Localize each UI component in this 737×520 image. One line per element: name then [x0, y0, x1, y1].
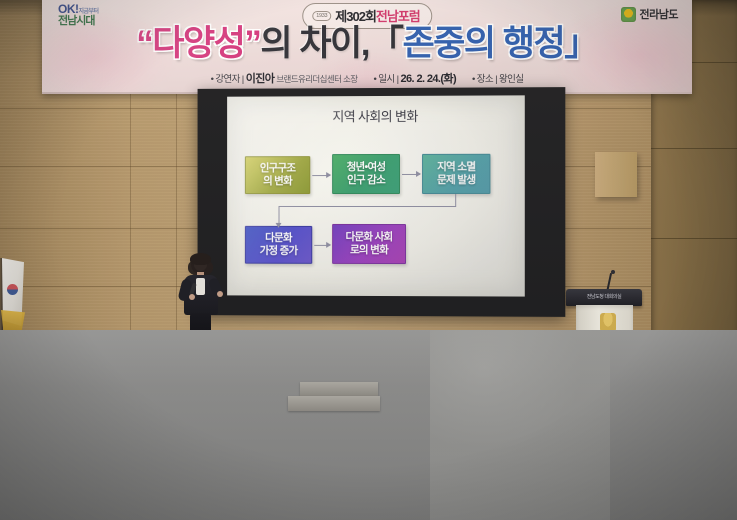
flow-box-line1: 인구구조: [260, 162, 296, 175]
podium-label: 전남도청 대회의실: [566, 293, 642, 300]
flow-box-line1: 지역 소멸: [437, 161, 475, 174]
flow-box-line2: 로의 변화: [350, 244, 388, 257]
projection-screen-frame: 지역 사회의 변화 인구구조 의 변화 청년•여성 인구 감소 지역 소멸 문제…: [198, 87, 566, 317]
slide-flow-diagram: 인구구조 의 변화 청년•여성 인구 감소 지역 소멸 문제 발생 다문화 가정…: [237, 146, 515, 287]
banner-title-bracket-close: 」: [564, 24, 598, 63]
wall-protruding-block: [595, 152, 637, 197]
flow-arrow-3: [314, 245, 330, 246]
flow-box-line1: 다문화 사회: [346, 231, 393, 244]
conference-photo-scene: OK!지금부터 전남시대 1933 제302회전남포럼 전라남도 “다양성”의 …: [0, 0, 737, 520]
flow-box-multicultural-society: 다문화 사회 로의 변화: [332, 224, 406, 264]
flow-box-regional-extinction: 지역 소멸 문제 발생: [422, 154, 490, 194]
slide-title: 지역 사회의 변화: [227, 105, 525, 125]
flow-box-line1: 다문화: [265, 232, 292, 245]
place-label: • 장소 |: [472, 74, 497, 85]
flow-box-multicultural-families: 다문화 가정 증가: [245, 226, 312, 264]
speaker-role: 브랜드유리더십센터 소장: [276, 74, 357, 84]
jeollanamdo-logo: 전라남도: [621, 6, 678, 22]
podium-top: 전남도청 대회의실: [566, 289, 642, 306]
banner-subtitle: • 강연자 | 이진아 브랜드유리더십센터 소장• 일시 | 26. 2. 24…: [42, 70, 692, 86]
flow-arrow-2: [402, 174, 420, 175]
podium-microphone-head-icon: [611, 270, 615, 274]
banner-title-respect-admin: 존중의 행정: [402, 24, 564, 63]
place-value: 왕인실: [499, 74, 523, 85]
event-banner: OK!지금부터 전남시대 1933 제302회전남포럼 전라남도 “다양성”의 …: [42, 0, 692, 94]
date-label: • 일시 |: [374, 74, 399, 85]
banner-title: “다양성”의 차이,「존중의 행정」: [42, 22, 692, 66]
taegeuk-icon: [7, 284, 18, 295]
jeollanamdo-text: 전라남도: [640, 6, 678, 22]
flow-box-population-structure: 인구구조 의 변화: [245, 156, 310, 194]
date-value: 26. 2. 24.(화): [401, 73, 457, 85]
speaker-shirt: [196, 278, 205, 295]
banner-title-diversity: “다양성”: [136, 24, 260, 63]
flow-box-line2: 인구 감소: [347, 174, 385, 187]
speaker-hand-right: [217, 291, 223, 297]
flow-box-line2: 가정 증가: [260, 245, 298, 258]
banner-title-difference: 의 차이,「: [260, 24, 402, 63]
speaker-name: 이진아: [246, 73, 275, 85]
flow-box-line1: 청년•여성: [347, 161, 386, 174]
logo-ok-text: OK!: [58, 2, 79, 16]
audience-seating-area: [0, 312, 737, 520]
speaker-hair-front: [190, 253, 211, 265]
speaker-hand-left: [189, 294, 195, 300]
flow-connector-horizontal: [279, 206, 457, 207]
jeonnam-emblem-icon: [621, 7, 636, 22]
projection-screen: 지역 사회의 변화 인구구조 의 변화 청년•여성 인구 감소 지역 소멸 문제…: [227, 95, 525, 296]
flow-box-line2: 의 변화: [263, 175, 292, 188]
speaker-label: • 강연자 |: [211, 74, 244, 85]
flow-box-youth-women-decline: 청년•여성 인구 감소: [332, 154, 400, 194]
flow-connector-vertical-left: [279, 206, 280, 224]
flow-box-line2: 문제 발생: [437, 174, 475, 187]
flow-arrow-1: [312, 175, 330, 176]
badge-year-mark: 1933: [312, 11, 331, 21]
